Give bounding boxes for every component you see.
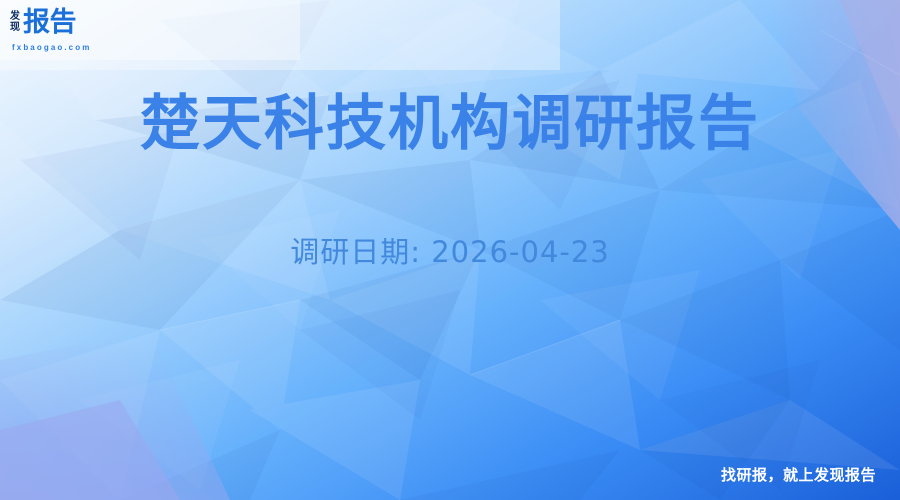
footer-tagline: 找研报，就上发现报告 xyxy=(721,465,876,485)
site-logo[interactable]: 发 现 报告 fxbaogao.com xyxy=(10,9,76,36)
logo-domain-text: fxbaogao.com xyxy=(12,43,91,52)
logo-mark: 发 现 报告 xyxy=(10,9,76,36)
page-title: 楚天科技机构调研报告 xyxy=(0,88,900,160)
report-cover-page: 发 现 报告 fxbaogao.com 楚天科技机构调研报告 调研日期: 202… xyxy=(0,0,900,500)
logo-char-fa: 发 xyxy=(10,11,20,22)
logo-stacked-characters: 发 现 xyxy=(10,11,20,33)
survey-date-subtitle: 调研日期: 2026-04-23 xyxy=(0,232,900,272)
logo-char-xian: 现 xyxy=(10,22,20,33)
logo-wordmark: 报告 xyxy=(23,9,76,36)
